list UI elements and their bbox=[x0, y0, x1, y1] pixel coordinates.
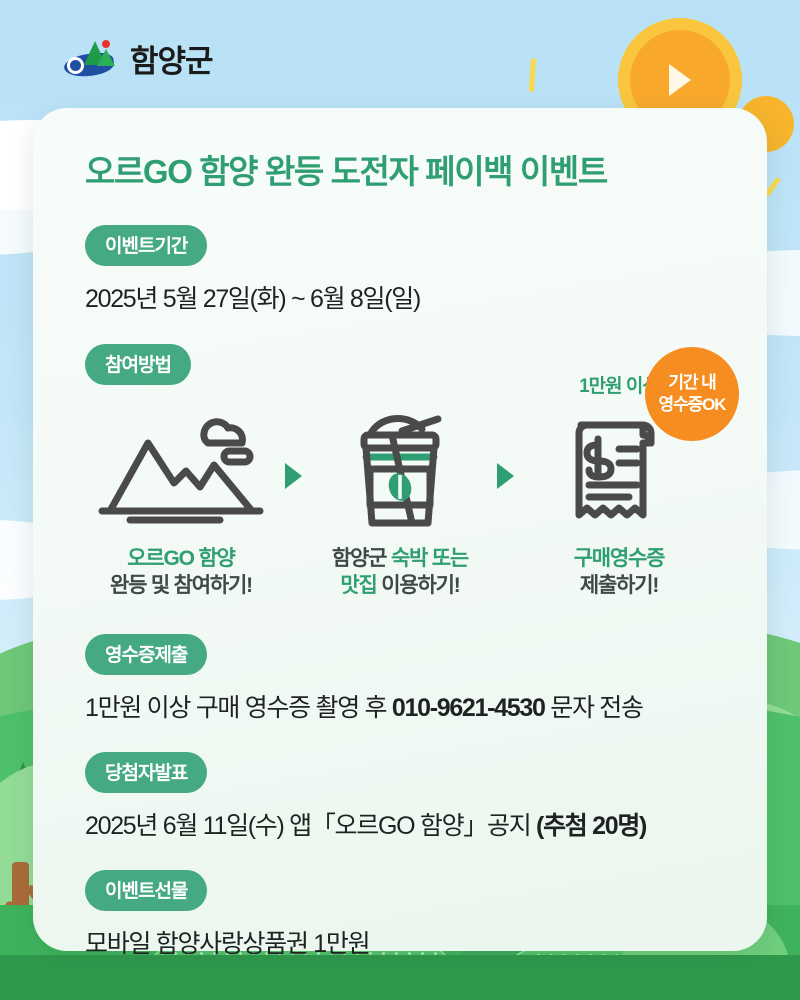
hamyang-county-logo-icon bbox=[64, 40, 118, 78]
event-gift-text: 모바일 함양사랑상품권 1만원 bbox=[85, 924, 715, 960]
step-1-label: 오르GO 함양 완등 및 참여하기! bbox=[85, 545, 277, 600]
step-2-line2-hl: 맛집 bbox=[340, 574, 376, 597]
receipt-ok-badge: 기간 내 영수증OK bbox=[645, 347, 739, 441]
receipt-ok-line2: 영수증OK bbox=[659, 394, 726, 415]
badge-receipt-submission: 영수증제출 bbox=[85, 634, 207, 675]
receipt-ok-line1: 기간 내 bbox=[668, 372, 715, 393]
section-event-gift: 이벤트선물 모바일 함양사랑상품권 1만원 bbox=[85, 870, 715, 960]
section-winner-announcement: 당첨자발표 2025년 6월 11일(수) 앱「오르GO 함양」공지 (추첨 2… bbox=[85, 752, 715, 842]
badge-winner-announcement: 당첨자발표 bbox=[85, 752, 207, 793]
chevron-right-icon bbox=[497, 463, 514, 489]
step-1-line2: 완등 및 참여하기! bbox=[110, 574, 252, 597]
section-receipt-submission: 영수증제출 1만원 이상 구매 영수증 촬영 후 010-9621-4530 문… bbox=[85, 634, 715, 724]
event-card: 오르GO 함양 완등 도전자 페이백 이벤트 이벤트기간 2025년 5월 27… bbox=[33, 108, 767, 951]
page-title: 오르GO 함양 완등 도전자 페이백 이벤트 bbox=[85, 152, 715, 192]
winner-draw-count: (추첨 20명) bbox=[536, 812, 646, 840]
step-2-label: 함양군 숙박 또는 맛집 이용하기! bbox=[304, 545, 496, 600]
chevron-right-icon bbox=[285, 463, 302, 489]
step-3-line1: 구매영수증 bbox=[574, 547, 665, 570]
step-2-line2-rest: 이용하기! bbox=[377, 574, 460, 597]
step-1-line1: 오르GO 함양 bbox=[127, 547, 234, 570]
participation-steps: 오르GO 함양 완등 및 참여하기! bbox=[85, 401, 715, 600]
receipt-submission-text: 1만원 이상 구매 영수증 촬영 후 010-9621-4530 문자 전송 bbox=[85, 688, 715, 724]
section-how-to-participate: 참여방법 오르GO 함양 완등 bbox=[85, 344, 715, 600]
section-event-period: 이벤트기간 2025년 5월 27일(화) ~ 6월 8일(일) bbox=[85, 225, 715, 315]
brand-bar: 함양군 bbox=[0, 0, 800, 108]
event-poster: 함양군 오르GO 함양 완등 도전자 페이백 이벤트 이벤트기간 2025년 5… bbox=[0, 0, 800, 1000]
winner-text-prefix: 2025년 6월 11일(수) 앱「오르GO 함양」공지 bbox=[85, 812, 536, 840]
step-1: 오르GO 함양 완등 및 참여하기! bbox=[85, 401, 277, 600]
iced-coffee-cup-icon bbox=[304, 401, 496, 533]
step-2: 함양군 숙박 또는 맛집 이용하기! bbox=[304, 401, 496, 600]
step-3-line2: 제출하기! bbox=[580, 574, 658, 597]
mountain-cloud-icon bbox=[85, 401, 277, 533]
brand-name: 함양군 bbox=[130, 36, 213, 81]
event-period-text: 2025년 5월 27일(화) ~ 6월 8일(일) bbox=[85, 279, 715, 315]
badge-how-to-participate: 참여방법 bbox=[85, 344, 191, 385]
receipt-text-suffix: 문자 전송 bbox=[545, 694, 643, 722]
winner-announcement-text: 2025년 6월 11일(수) 앱「오르GO 함양」공지 (추첨 20명) bbox=[85, 806, 715, 842]
brand-logo[interactable]: 함양군 bbox=[64, 36, 213, 81]
step-3-label: 구매영수증 제출하기! bbox=[523, 545, 715, 600]
hill-foreground bbox=[0, 955, 800, 1000]
receipt-text-prefix: 1만원 이상 구매 영수증 촬영 후 bbox=[85, 694, 392, 722]
receipt-phone-number: 010-9621-4530 bbox=[392, 694, 545, 722]
step-2-line1-hl: 숙박 또는 bbox=[391, 547, 468, 570]
step-3: 1만원 이상 기간 내 영수증OK bbox=[523, 401, 715, 600]
step-2-line1-prefix: 함양군 bbox=[332, 547, 391, 570]
badge-event-period: 이벤트기간 bbox=[85, 225, 207, 266]
badge-event-gift: 이벤트선물 bbox=[85, 870, 207, 911]
